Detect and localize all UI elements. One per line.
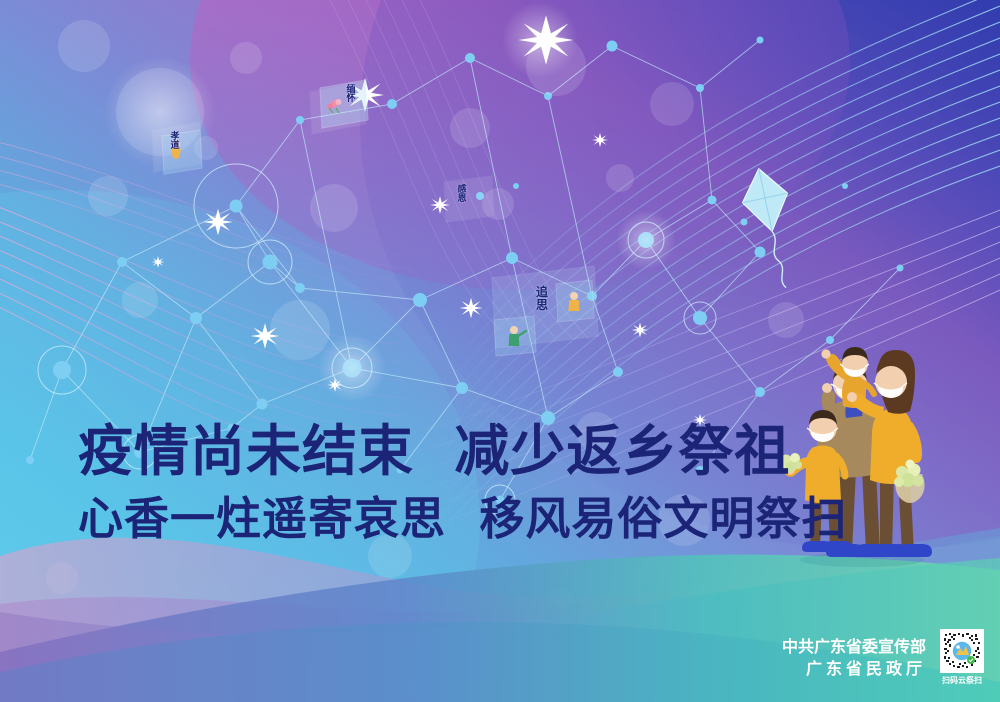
org-name-propaganda-department: 中共广东省委宣传部: [782, 636, 926, 658]
family-illustration-layer: [0, 0, 1000, 702]
qr-code-graphic: [941, 630, 983, 672]
qr-code[interactable]: [940, 629, 984, 673]
headline-block: 疫情尚未结束 减少返乡祭祖 心香一炷遥寄哀思 移风易俗文明祭扫: [78, 424, 778, 541]
memorial-card-label-ganen: 感恩: [455, 186, 469, 205]
headline-line-2: 心香一炷遥寄哀思 移风易俗文明祭扫: [78, 496, 778, 541]
qr-code-caption: 扫码云祭扫: [942, 675, 982, 686]
memorial-card-label-zhuisi: 追思: [533, 286, 551, 311]
footer-attribution: 中共广东省委宣传部 广东省民政厅: [782, 629, 984, 686]
memorial-card-label-xiaodao: 孝道: [168, 133, 182, 152]
qr-code-block[interactable]: 扫码云祭扫: [940, 629, 984, 686]
headline-line-1: 疫情尚未结束 减少返乡祭祖: [78, 424, 778, 479]
memorial-card-label-mianhuai: 缅怀: [344, 86, 358, 105]
org-name-civil-affairs-department: 广东省民政厅: [782, 658, 926, 680]
issuing-organizations: 中共广东省委宣传部 广东省民政厅: [782, 636, 926, 679]
poster-canvas: 孝道 缅怀 感恩 追思: [0, 0, 1000, 702]
